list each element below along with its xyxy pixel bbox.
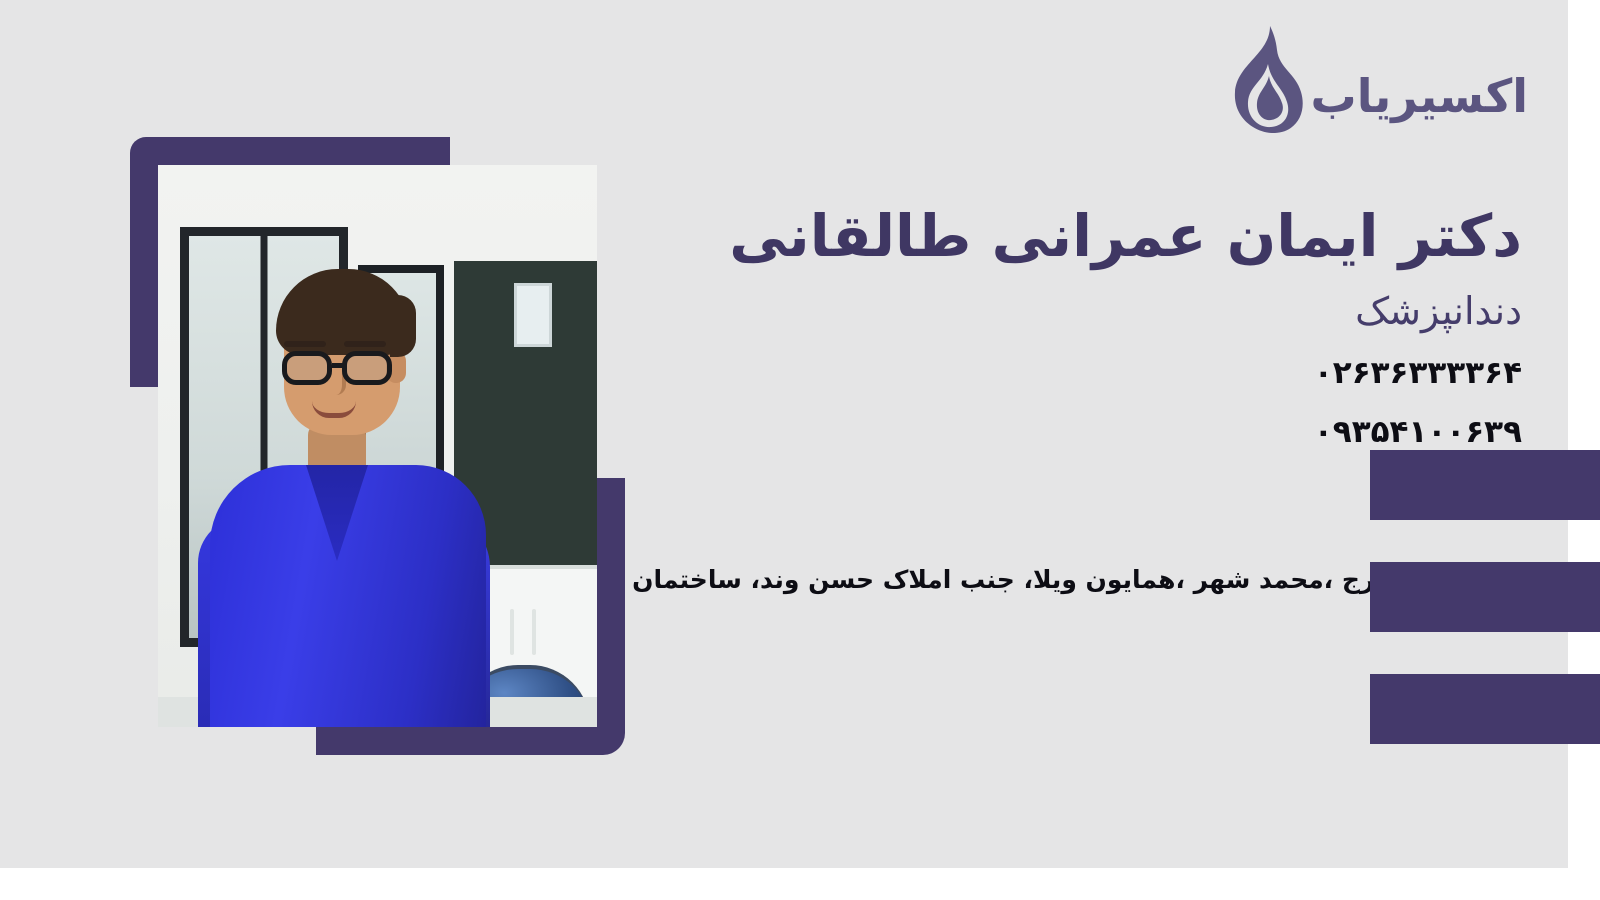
doctor-specialty: دندانپزشک	[642, 287, 1522, 336]
brand-wordmark: اکسیریاب	[1311, 73, 1529, 119]
brand-logo[interactable]: اکسیریاب	[1213, 22, 1529, 138]
doctor-photo	[158, 165, 597, 727]
photo-wall-picture	[514, 283, 552, 347]
decorative-bar	[1370, 562, 1600, 632]
photo-lens-right	[342, 351, 392, 385]
phone-list: ۰۲۶۳۶۳۳۳۳۶۴ ۰۹۳۵۴۱۰۰۶۳۹	[642, 344, 1522, 462]
photo-glasses-bridge	[332, 363, 344, 368]
decorative-bar-group	[1370, 450, 1600, 744]
portrait-composition	[0, 0, 700, 800]
photo-eyebrow-left	[284, 341, 326, 347]
business-card-canvas: اکسیریاب کرج ،محمد شهر ،همایون ویلا، جنب…	[0, 0, 1600, 900]
decorative-bar	[1370, 450, 1600, 520]
decorative-bar	[1370, 674, 1600, 744]
doctor-name: دکتر ایمان عمرانی طالقانی	[642, 200, 1522, 273]
phone-landline[interactable]: ۰۲۶۳۶۳۳۳۳۶۴	[642, 344, 1522, 403]
photo-eyebrow-right	[344, 341, 386, 347]
glasses-icon	[280, 351, 404, 385]
flame-icon	[1213, 24, 1305, 136]
photo-lens-left	[282, 351, 332, 385]
doctor-info: دکتر ایمان عمرانی طالقانی دندانپزشک ۰۲۶۳…	[642, 200, 1522, 462]
